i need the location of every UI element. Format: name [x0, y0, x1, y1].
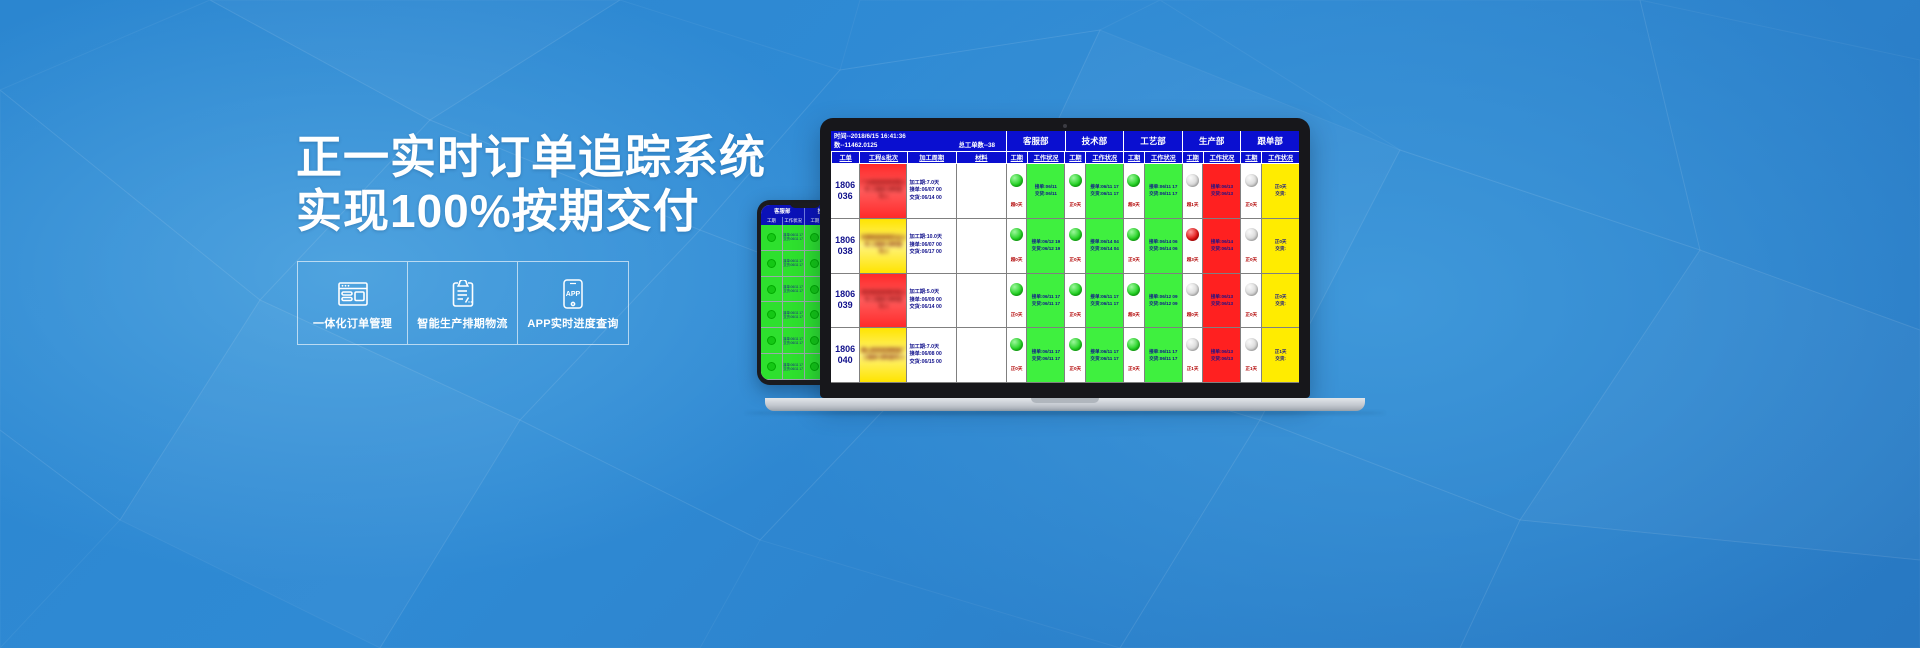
- status-led: [810, 362, 819, 371]
- status-led: [1069, 338, 1082, 351]
- stage-status-cell: 接单:06/11 17交货:06/11 17: [1026, 274, 1064, 328]
- status-led: [1186, 338, 1199, 351]
- phone-cell-text: 接单:06/11 17交货:06/11 17: [783, 337, 802, 345]
- status-led: [1186, 283, 1199, 296]
- stage-duration-cell: 正0天: [1006, 328, 1027, 382]
- feature-item-app-progress[interactable]: APP APP实时进度查询: [518, 262, 628, 344]
- phone-cell: [761, 225, 782, 251]
- feature-label: 智能生产排期物流: [417, 315, 507, 331]
- feature-label: APP实时进度查询: [527, 315, 618, 331]
- phone-cell-text: 接单:06/11 17交货:06/11 17: [783, 285, 802, 293]
- stage-status-cell: 接单:06/11 17交货:06/11 17: [1144, 164, 1182, 218]
- status-led: [1127, 174, 1140, 187]
- laptop-screen: 时间--2018/6/15 16:41:36 数--11462.0125 总工单…: [831, 131, 1299, 383]
- order-tracking-dashboard: 时间--2018/6/15 16:41:36 数--11462.0125 总工单…: [831, 131, 1299, 383]
- status-led: [1010, 338, 1023, 351]
- stage-duration-cell: 超0天: [1006, 219, 1027, 273]
- column-header: 工期: [1182, 152, 1203, 164]
- status-led: [767, 259, 776, 268]
- status-led: [1245, 174, 1258, 187]
- stage-duration-cell: 超0天: [1123, 274, 1144, 328]
- processing-cycle-cell: 加工期:7.0天接单:06/08 00交货:06/15 00: [906, 328, 955, 382]
- dept-header-customer-service: 客服部: [1006, 131, 1065, 151]
- dashboard-column-header: 工单工程&批次加工周期材料工期工作状况工期工作状况工期工作状况工期工作状况工期工…: [831, 152, 1299, 164]
- status-led: [1069, 228, 1082, 241]
- status-led: [1127, 338, 1140, 351]
- feature-item-order-management[interactable]: 一体化订单管理: [298, 262, 408, 344]
- processing-cycle-cell: 加工期:7.0天接单:06/07 00交货:06/14 00: [906, 164, 955, 218]
- stage-status-cell: 接单:06/13交货:06/13: [1202, 164, 1240, 218]
- stage-duration-cell: 正0天: [1240, 274, 1261, 328]
- status-led: [1010, 283, 1023, 296]
- status-led: [1186, 174, 1199, 187]
- phone-cell-text: 接单:06/11 17交货:06/11 17: [783, 311, 802, 319]
- laptop-shadow: [745, 411, 1385, 415]
- stage-duration-cell: 正1天: [1240, 328, 1261, 382]
- phone-cell: 接单:06/11 17交货:06/11 17: [783, 302, 804, 328]
- phone-col: 工期: [761, 217, 783, 225]
- webcam-icon: [1063, 124, 1067, 128]
- project-batch-cell: 深圳某某某某科技公司 工程单 材料型号-3: [859, 274, 906, 328]
- stage-status-cell: 接单:06/14交货:06/14: [1202, 219, 1240, 273]
- stage-duration-cell: 超3天: [1182, 219, 1203, 273]
- status-led: [767, 310, 776, 319]
- table-row[interactable]: 1806040佛山某某某某制造厂 工程单 材料型号-4加工期:7.0天接单:06…: [831, 328, 1299, 383]
- column-header: 工作状况: [1144, 152, 1182, 164]
- material-cell: [956, 164, 1006, 218]
- dashboard-title-bar: 时间--2018/6/15 16:41:36 数--11462.0125 总工单…: [831, 131, 1299, 152]
- phone-cell: [761, 302, 782, 328]
- laptop-lid: 时间--2018/6/15 16:41:36 数--11462.0125 总工单…: [820, 118, 1310, 398]
- dashboard-meta: 时间--2018/6/15 16:41:36 数--11462.0125 总工单…: [831, 131, 1006, 151]
- column-header: 工期: [1240, 152, 1261, 164]
- stage-status-cell: 接单:06/12 09交货:06/12 09: [1144, 274, 1182, 328]
- column-header: 加工周期: [907, 152, 956, 164]
- phone-cell: [761, 277, 782, 303]
- phone-col: 工作状况: [783, 217, 805, 225]
- feature-item-smart-scheduling[interactable]: 智能生产排期物流: [408, 262, 518, 344]
- table-row[interactable]: 1806038东莞某某某某实业公司 工程单 材料型号-2加工期:10.0天接单:…: [831, 219, 1299, 274]
- work-order-number: 1806040: [831, 328, 859, 382]
- column-header: 工单: [831, 152, 859, 164]
- work-order-number: 1806038: [831, 219, 859, 273]
- stage-status-cell: 正0天交货:: [1261, 274, 1299, 328]
- stage-duration-cell: 正0天: [1064, 164, 1085, 218]
- phone-column: [761, 225, 783, 380]
- status-led: [1245, 283, 1258, 296]
- column-header: 工期: [1064, 152, 1085, 164]
- phone-cell-text: 接单:06/11 17交货:06/11 17: [783, 259, 802, 267]
- dashboard-count: 数--11462.0125: [834, 141, 877, 150]
- column-header: 工作状况: [1261, 152, 1299, 164]
- stage-status-cell: 接单:06/14 04交货:06/14 04: [1085, 219, 1123, 273]
- stage-status-cell: 接单:06/11交货:06/11: [1026, 164, 1064, 218]
- dept-header-technical: 技术部: [1065, 131, 1124, 151]
- stage-status-cell: 正1天交货:: [1261, 328, 1299, 382]
- status-led: [1069, 174, 1082, 187]
- project-batch-cell: 广州某某某某有限公司 工程单 材料型号-1: [859, 164, 906, 218]
- dashboard-window-icon: [338, 279, 368, 309]
- status-led: [810, 259, 819, 268]
- phone-cell: 接单:06/11 17交货:06/11 17: [783, 354, 804, 380]
- stage-duration-cell: 正0天: [1240, 219, 1261, 273]
- work-order-number: 1806036: [831, 164, 859, 218]
- phone-cell: [761, 251, 782, 277]
- phone-column: 接单:06/11 17交货:06/11 17接单:06/11 17交货:06/1…: [783, 225, 805, 380]
- column-header: 工作状况: [1027, 152, 1065, 164]
- svg-text:APP: APP: [566, 291, 581, 298]
- stage-status-cell: 正0天交货:: [1261, 219, 1299, 273]
- stage-status-cell: 接单:06/11 17交货:06/11 17: [1144, 328, 1182, 382]
- dept-header-followup: 跟单部: [1240, 131, 1299, 151]
- stage-duration-cell: 超0天: [1182, 274, 1203, 328]
- feature-list: 一体化订单管理 智能生产排期物流 APP AP: [297, 261, 629, 345]
- mobile-app-icon: APP: [563, 279, 583, 309]
- stage-duration-cell: 超1天: [1182, 164, 1203, 218]
- phone-cell: 接单:06/11 17交货:06/11 17: [783, 328, 804, 354]
- stage-status-cell: 接单:06/13交货:06/13: [1202, 274, 1240, 328]
- table-row[interactable]: 1806036广州某某某某有限公司 工程单 材料型号-1加工期:7.0天接单:0…: [831, 164, 1299, 219]
- status-led: [1010, 174, 1023, 187]
- work-order-number: 1806039: [831, 274, 859, 328]
- phone-cell: 接单:06/11 17交货:06/11 17: [783, 251, 804, 277]
- stage-duration-cell: 正0天: [1006, 274, 1027, 328]
- status-led: [810, 233, 819, 242]
- status-led: [767, 285, 776, 294]
- phone-cell-text: 接单:06/11 17交货:06/11 17: [783, 233, 802, 241]
- material-cell: [956, 219, 1006, 273]
- status-led: [1127, 283, 1140, 296]
- stage-duration-cell: 正0天: [1064, 328, 1085, 382]
- dashboard-time: 时间--2018/6/15 16:41:36: [834, 132, 1003, 141]
- phone-notch: [790, 203, 820, 208]
- status-led: [1010, 228, 1023, 241]
- column-header: 工期: [1006, 152, 1027, 164]
- status-led: [810, 336, 819, 345]
- stage-status-cell: 接单:06/11 17交货:06/11 17: [1085, 164, 1123, 218]
- status-led: [810, 285, 819, 294]
- column-header: 工期: [1123, 152, 1144, 164]
- laptop-mockup: 时间--2018/6/15 16:41:36 数--11462.0125 总工单…: [820, 118, 1385, 415]
- processing-cycle-cell: 加工期:5.0天接单:06/09 00交货:06/14 00: [906, 274, 955, 328]
- processing-cycle-cell: 加工期:10.0天接单:06/07 00交货:06/17 00: [906, 219, 955, 273]
- status-led: [810, 310, 819, 319]
- feature-label: 一体化订单管理: [313, 315, 392, 331]
- stage-status-cell: 接单:06/13交货:06/13: [1202, 328, 1240, 382]
- stage-duration-cell: 超0天: [1006, 164, 1027, 218]
- status-led: [1245, 228, 1258, 241]
- stage-duration-cell: 正1天: [1182, 328, 1203, 382]
- headline-line-2: 实现100%按期交付: [296, 184, 716, 238]
- phone-cell: [761, 354, 782, 380]
- page-title: 正一实时订单追踪系统 实现100%按期交付: [296, 130, 716, 238]
- hero-copy: 正一实时订单追踪系统 实现100%按期交付: [296, 130, 716, 238]
- column-header: 工作状况: [1085, 152, 1123, 164]
- status-led: [1127, 228, 1140, 241]
- table-row[interactable]: 1806039深圳某某某某科技公司 工程单 材料型号-3加工期:5.0天接单:0…: [831, 274, 1299, 329]
- material-cell: [956, 274, 1006, 328]
- project-batch-cell: 佛山某某某某制造厂 工程单 材料型号-4: [859, 328, 906, 382]
- phone-cell: [761, 328, 782, 354]
- stage-status-cell: 接单:06/11 17交货:06/11 17: [1026, 328, 1064, 382]
- clipboard-schedule-icon: [451, 279, 475, 309]
- column-header: 材料: [956, 152, 1006, 164]
- stage-duration-cell: 正0天: [1064, 274, 1085, 328]
- phone-cell: 接单:06/11 17交货:06/11 17: [783, 225, 804, 251]
- laptop-base: [765, 398, 1365, 411]
- column-header: 工程&批次: [859, 152, 906, 164]
- dept-header-process: 工艺部: [1123, 131, 1182, 151]
- stage-duration-cell: 正0天: [1064, 219, 1085, 273]
- stage-duration-cell: 正0天: [1123, 219, 1144, 273]
- status-led: [1245, 338, 1258, 351]
- dashboard-total: 总工单数--38: [959, 141, 995, 150]
- stage-status-cell: 接单:06/14 06交货:06/14 06: [1144, 219, 1182, 273]
- status-led: [767, 336, 776, 345]
- phone-cell: 接单:06/11 17交货:06/11 17: [783, 277, 804, 303]
- stage-duration-cell: 正0天: [1123, 328, 1144, 382]
- headline-line-1: 正一实时订单追踪系统: [296, 131, 766, 183]
- stage-duration-cell: 超0天: [1123, 164, 1144, 218]
- column-header: 工作状况: [1203, 152, 1241, 164]
- status-led: [1069, 283, 1082, 296]
- dashboard-rows: 1806036广州某某某某有限公司 工程单 材料型号-1加工期:7.0天接单:0…: [831, 164, 1299, 383]
- dept-header-production: 生产部: [1182, 131, 1241, 151]
- material-cell: [956, 328, 1006, 382]
- status-led: [767, 362, 776, 371]
- status-led: [1186, 228, 1199, 241]
- stage-status-cell: 接单:06/11 17交货:06/11 17: [1085, 274, 1123, 328]
- stage-status-cell: 正0天交货:: [1261, 164, 1299, 218]
- status-led: [767, 233, 776, 242]
- project-batch-cell: 东莞某某某某实业公司 工程单 材料型号-2: [859, 219, 906, 273]
- stage-duration-cell: 正0天: [1240, 164, 1261, 218]
- phone-cell-text: 接单:06/11 17交货:06/11 17: [783, 363, 802, 371]
- stage-status-cell: 接单:06/12 19交货:06/12 19: [1026, 219, 1064, 273]
- stage-status-cell: 接单:06/11 17交货:06/11 17: [1085, 328, 1123, 382]
